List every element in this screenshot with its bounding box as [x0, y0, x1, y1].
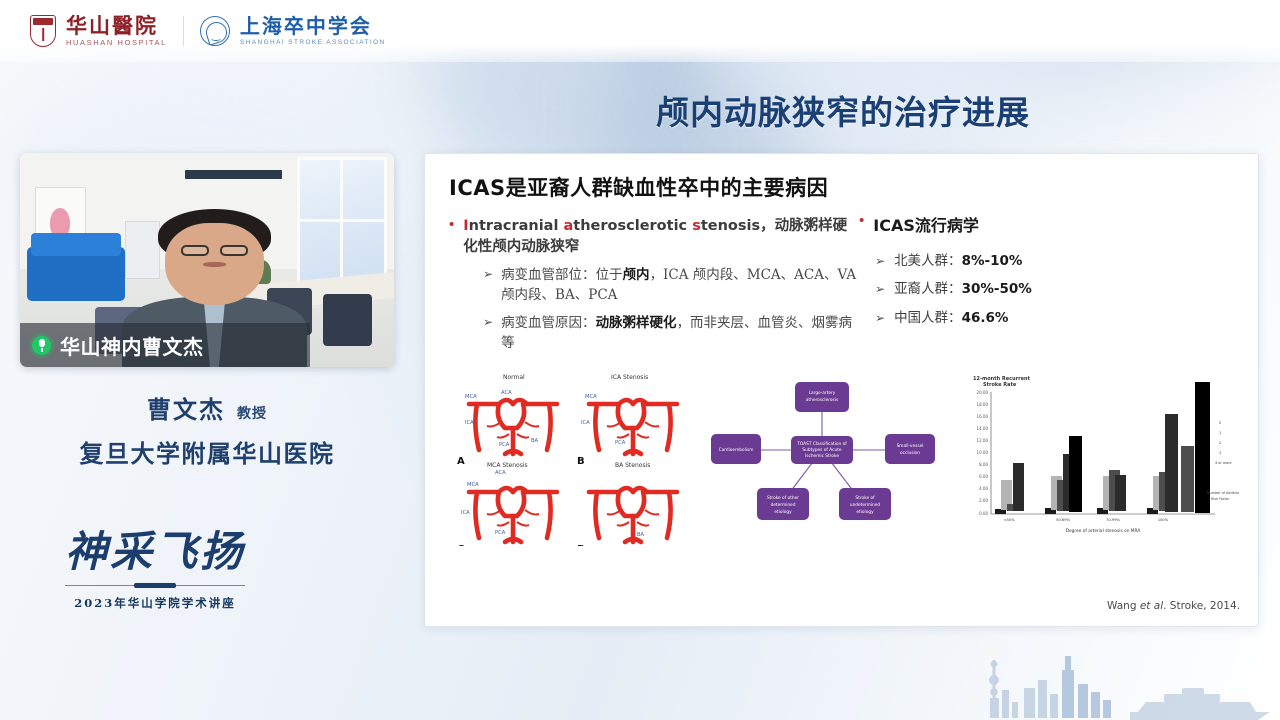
- svg-text:ACA: ACA: [501, 390, 512, 396]
- svg-text:0: 0: [1219, 421, 1221, 425]
- svg-text:atherosclerosis: atherosclerosis: [806, 397, 839, 403]
- ssa-logo-text: 上海卒中学会 SHANGHAI STROKE ASSOCIATION: [240, 16, 386, 47]
- speaker-rank: 教授: [237, 406, 267, 422]
- video-name-bar: 华山神内曹文杰: [20, 323, 310, 367]
- video-speaker-mouth: [203, 262, 227, 266]
- slide-bullet-column-left: • Intracranial atherosclerotic stenosis，…: [449, 216, 859, 353]
- epi-row-north-america: ➢ 北美人群： 8%-10%: [859, 249, 1129, 270]
- bullet-primary-text: Intracranial atherosclerotic stenosis，动脉…: [463, 216, 859, 257]
- huashan-logo-text: 华山醫院 HUASHAN HOSPITAL: [66, 15, 167, 47]
- sub1-bold: 颅内: [623, 267, 650, 283]
- epi-label: 中国人群：: [894, 306, 962, 326]
- svg-text:<50%: <50%: [1004, 518, 1016, 522]
- svg-text:B: B: [577, 456, 585, 467]
- svg-text:MCA: MCA: [467, 482, 479, 488]
- svg-text:6.00: 6.00: [979, 474, 988, 479]
- svg-text:Ischemic Stroke: Ischemic Stroke: [805, 453, 839, 459]
- svg-text:Number of Additional: Number of Additional: [1207, 491, 1239, 495]
- svg-text:MCA: MCA: [465, 394, 477, 400]
- epi-label: 北美人群：: [894, 249, 962, 269]
- svg-text:undetermined: undetermined: [850, 502, 881, 508]
- svg-text:70-99%: 70-99%: [1106, 518, 1120, 522]
- slide-figure-strip: Normal MCAACA ICAPCABA: [447, 366, 1239, 546]
- event-brand: 神采飞扬 2023年华山学院学术讲座: [55, 530, 255, 611]
- sub2-bold: 动脉粥样硬化: [596, 315, 677, 331]
- svg-text:occlusion: occlusion: [900, 450, 920, 456]
- speaker-affiliation: 复旦大学附属华山医院: [20, 434, 394, 469]
- arrow-marker-icon: ➢: [875, 253, 885, 270]
- svg-text:4.00: 4.00: [979, 486, 988, 491]
- svg-text:Normal: Normal: [503, 374, 525, 381]
- epi-value: 30%-50%: [962, 281, 1032, 297]
- svg-text:BA: BA: [531, 438, 539, 444]
- bullet-marker: •: [449, 216, 454, 235]
- svg-text:A: A: [457, 456, 465, 467]
- arrow-marker-icon: ➢: [875, 310, 885, 327]
- arrow-marker-icon: ➢: [483, 266, 493, 283]
- svg-text:TOAST Classification of: TOAST Classification of: [796, 441, 847, 447]
- shanghai-skyline-icon: [950, 640, 1280, 720]
- toast-classification-diagram: Large-arteryatherosclerosis TOAST Classi…: [699, 366, 945, 546]
- epi-label: 亚裔人群：: [894, 277, 962, 297]
- epi-row-chinese: ➢ 中国人群： 46.6%: [859, 306, 1129, 327]
- svg-text:D: D: [577, 544, 585, 546]
- slide-title: ICAS是亚裔人群缺血性卒中的主要病因: [449, 172, 828, 202]
- svg-text:2: 2: [1219, 441, 1221, 445]
- source-etal: et al: [1140, 600, 1163, 612]
- recurrent-stroke-rate-chart: 12-month Recurrent Stroke Rate 20.0018.0…: [957, 366, 1239, 546]
- video-speaker-face: [165, 223, 264, 305]
- circle-of-willis-figure: Normal MCAACA ICAPCABA: [447, 366, 687, 546]
- epi-row-asian: ➢ 亚裔人群： 30%-50%: [859, 277, 1129, 298]
- slide-source-citation: Wang et al. Stroke, 2014.: [1107, 600, 1240, 612]
- brand-subtitle: 2023年华山学院学术讲座: [55, 595, 255, 611]
- logo-divider: [183, 16, 184, 46]
- svg-text:100%: 100%: [1158, 518, 1169, 522]
- svg-text:Risk Factor: Risk Factor: [1211, 497, 1230, 501]
- video-chair-2: [323, 294, 372, 345]
- video-window: [297, 157, 387, 290]
- brand-calligraphy: 神采飞扬: [55, 530, 255, 574]
- huashan-name-en: HUASHAN HOSPITAL: [66, 39, 167, 47]
- sub1-label: 病变血管部位：: [501, 267, 596, 283]
- slide-epidemiology-column: • ICAS流行病学 ➢ 北美人群： 8%-10% ➢ 亚裔人群： 30%-50…: [859, 212, 1129, 327]
- svg-text:ICA: ICA: [461, 510, 470, 516]
- video-blue-sofa: [27, 247, 124, 301]
- svg-text:PCA: PCA: [495, 530, 506, 536]
- svg-text:Stroke of other: Stroke of other: [767, 495, 799, 501]
- svg-text:ACA: ACA: [495, 470, 506, 476]
- svg-text:PCA: PCA: [499, 442, 510, 448]
- svg-text:1: 1: [1219, 431, 1221, 435]
- hl-s: s: [692, 218, 701, 234]
- svg-text:Small-vessel: Small-vessel: [897, 443, 924, 449]
- svg-text:etiology: etiology: [774, 509, 792, 515]
- bullet-sub-2: ➢ 病变血管原因：动脉粥样硬化，而非夹层、血管炎、烟雾病等: [449, 314, 859, 353]
- speaker-name: 曹文杰: [147, 396, 225, 424]
- svg-text:C: C: [457, 544, 464, 546]
- svg-text:Degree of arterial stenosis on: Degree of arterial stenosis on MRA: [1066, 528, 1141, 534]
- svg-text:18.00: 18.00: [977, 402, 989, 407]
- ssa-circle-icon: [200, 16, 230, 46]
- microphone-icon[interactable]: [32, 336, 51, 355]
- presentation-slide: ICAS是亚裔人群缺血性卒中的主要病因 • Intracranial ather…: [424, 153, 1259, 627]
- svg-text:Cardioembolism: Cardioembolism: [719, 447, 754, 453]
- hl-a: a: [564, 218, 574, 234]
- svg-text:14.00: 14.00: [977, 426, 989, 431]
- glasses-icon: [181, 245, 248, 256]
- ssa-name-cn: 上海卒中学会: [240, 16, 386, 36]
- shield-crest-icon: [30, 15, 56, 47]
- speaker-video-tile[interactable]: 华山神内曹文杰: [20, 153, 394, 367]
- huashan-name-cn: 华山醫院: [66, 15, 167, 36]
- svg-text:16.00: 16.00: [977, 414, 989, 419]
- speaker-identity: 曹文杰教授: [20, 390, 394, 425]
- svg-text:0.00: 0.00: [979, 511, 988, 516]
- svg-text:determined: determined: [771, 502, 796, 508]
- svg-text:etiology: etiology: [856, 509, 874, 515]
- logo-group: 华山醫院 HUASHAN HOSPITAL 上海卒中学会 SHANGHAI ST…: [0, 15, 386, 47]
- svg-text:2.00: 2.00: [979, 498, 988, 503]
- svg-text:Subtypes of Acute: Subtypes of Acute: [802, 447, 842, 453]
- bullet-primary: • Intracranial atherosclerotic stenosis，…: [449, 216, 859, 257]
- sub2-label: 病变血管原因：: [501, 315, 596, 331]
- svg-text:PCA: PCA: [615, 440, 626, 446]
- bullet-sub-1-text: 病变血管部位：位于颅内，ICA 颅内段、MCA、ACA、VA颅内段、BA、PCA: [501, 266, 859, 305]
- svg-text:Stroke Rate: Stroke Rate: [983, 382, 1017, 388]
- svg-text:20.00: 20.00: [977, 390, 989, 395]
- epi-value: 46.6%: [962, 310, 1009, 326]
- svg-text:12.00: 12.00: [977, 438, 989, 443]
- brand-divider: [65, 583, 245, 588]
- svg-text:4 or more: 4 or more: [1215, 461, 1232, 465]
- bullet-separator: ，: [760, 218, 775, 234]
- video-wall-strip: [185, 170, 282, 179]
- logo-bar: 华山醫院 HUASHAN HOSPITAL 上海卒中学会 SHANGHAI ST…: [0, 0, 1280, 62]
- svg-text:MCA: MCA: [585, 394, 597, 400]
- epi-heading: ICAS流行病学: [873, 212, 979, 236]
- svg-text:Large-artery: Large-artery: [809, 390, 836, 396]
- svg-text:ICA: ICA: [465, 420, 474, 426]
- bullet-en-b: therosclerotic: [573, 218, 692, 234]
- svg-text:BA: BA: [637, 532, 645, 538]
- epi-value: 8%-10%: [962, 253, 1023, 269]
- svg-text:8.00: 8.00: [979, 462, 988, 467]
- svg-text:MCA Stenosis: MCA Stenosis: [487, 462, 528, 469]
- svg-text:ICA: ICA: [581, 420, 590, 426]
- arrow-marker-icon: ➢: [875, 281, 885, 298]
- epi-heading-row: • ICAS流行病学: [859, 212, 1129, 242]
- svg-text:3: 3: [1219, 451, 1221, 455]
- page-title: 颅内动脉狭窄的治疗进展: [656, 86, 1030, 134]
- source-author: Wang: [1107, 600, 1136, 612]
- ssa-name-en: SHANGHAI STROKE ASSOCIATION: [240, 40, 386, 47]
- video-participant-name: 华山神内曹文杰: [60, 331, 204, 360]
- bullet-en-a: ntracranial: [469, 218, 564, 234]
- bullet-sub-1: ➢ 病变血管部位：位于颅内，ICA 颅内段、MCA、ACA、VA颅内段、BA、P…: [449, 266, 859, 305]
- svg-text:ICA Stenosis: ICA Stenosis: [611, 374, 648, 381]
- bullet-sub-2-text: 病变血管原因：动脉粥样硬化，而非夹层、血管炎、烟雾病等: [501, 314, 859, 353]
- svg-text:Stroke of: Stroke of: [855, 495, 875, 501]
- svg-text:50-69%: 50-69%: [1056, 518, 1070, 522]
- arrow-marker-icon: ➢: [483, 314, 493, 331]
- source-journal: . Stroke, 2014.: [1163, 600, 1240, 612]
- bullet-marker: •: [859, 212, 864, 231]
- svg-text:BA Stenosis: BA Stenosis: [615, 462, 650, 469]
- sub1-before: 位于: [596, 267, 623, 283]
- svg-text:10.00: 10.00: [977, 450, 989, 455]
- bullet-en-c: tenosis: [701, 218, 760, 234]
